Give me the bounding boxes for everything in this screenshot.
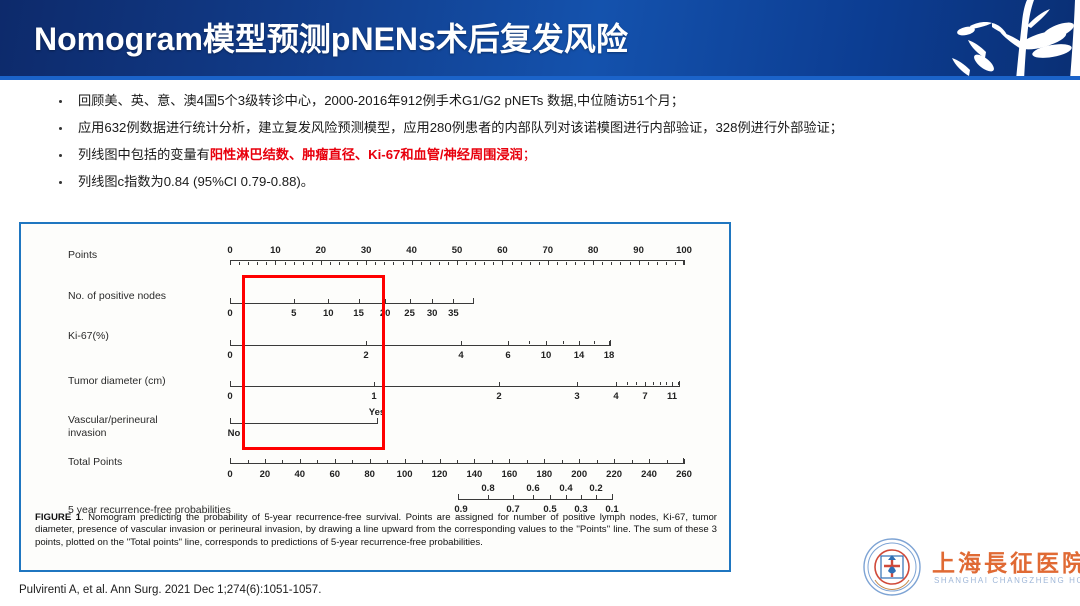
tick-label: 40: [295, 469, 306, 480]
tick-label: 0.8: [481, 483, 494, 494]
tick-label: 0: [227, 469, 232, 480]
tick-label: 160: [501, 469, 517, 480]
bullet-text-3-highlight: 阳性淋巴结数、肿瘤直径、Ki-67和血管/神经周围浸润: [210, 147, 523, 162]
tick-label: 80: [588, 245, 599, 256]
tick-label: 30: [427, 308, 438, 319]
hospital-emblem-icon: [858, 536, 928, 598]
tick-label: 200: [571, 469, 587, 480]
nomogram-figure-panel: Points No. of positive nodes Ki-67(%) Tu…: [19, 222, 731, 572]
tick-label: 180: [536, 469, 552, 480]
tick-label: 70: [543, 245, 554, 256]
bullet-text-3-prefix: 列线图中包括的变量有: [78, 147, 210, 162]
axis-label-vascular: Vascular/perineural invasion: [68, 414, 183, 440]
tick-label: 220: [606, 469, 622, 480]
list-item: 列线图中包括的变量有阳性淋巴结数、肿瘤直径、Ki-67和血管/神经周围浸润；: [50, 146, 1050, 164]
axis-label-nodes: No. of positive nodes: [68, 290, 166, 303]
tick-label: 2: [496, 391, 501, 402]
tick-label: 0: [227, 391, 232, 402]
tick-label: 0: [227, 350, 232, 361]
tree-branch-icon: [930, 0, 1080, 80]
tick-label: 25: [404, 308, 415, 319]
list-item: 回顾美、英、意、澳4国5个3级转诊中心，2000-2016年912例手术G1/G…: [50, 92, 1050, 110]
axis-label-total: Total Points: [68, 456, 122, 469]
tick-label: 11: [667, 391, 677, 402]
tick-label: 100: [676, 245, 692, 256]
figure-caption: FIGURE 1. Nomogram predicting the probab…: [35, 512, 717, 549]
tick-label: 80: [364, 469, 375, 480]
tick-label: 0.4: [559, 483, 572, 494]
tick-label: 100: [397, 469, 413, 480]
tick-label: 40: [406, 245, 417, 256]
nomogram-chart: Points No. of positive nodes Ki-67(%) Tu…: [21, 224, 729, 570]
tick-label: 60: [330, 469, 341, 480]
bullet-text-4: 列线图c指数为0.84 (95%CI 0.79-0.88)。: [78, 174, 314, 189]
tick-label: 0.2: [589, 483, 602, 494]
figure-caption-text: . Nomogram predicting the probability of…: [35, 512, 717, 548]
page-title: Nomogram模型预测pNENs术后复发风险: [34, 14, 628, 60]
tick-label: 1: [371, 391, 376, 402]
tick-label: 120: [432, 469, 448, 480]
citation-text: Pulvirenti A, et al. Ann Surg. 2021 Dec …: [19, 584, 321, 596]
header-underline: [0, 76, 1080, 80]
category-label-no: No: [228, 428, 241, 439]
hospital-logo: 上海長征医院 SHANGHAI CHANGZHENG HOSPITAL: [858, 536, 1068, 598]
axis-label-tumor: Tumor diameter (cm): [68, 375, 166, 388]
tick-label: 140: [466, 469, 482, 480]
tick-label: 14: [574, 350, 585, 361]
tick-label: 4: [613, 391, 618, 402]
tick-label: 30: [361, 245, 372, 256]
tick-label: 5: [291, 308, 296, 319]
category-label-yes: Yes: [369, 407, 385, 418]
tick-label: 20: [260, 469, 271, 480]
tick-label: 60: [497, 245, 508, 256]
figure-caption-label: FIGURE 1: [35, 512, 81, 523]
tick-label: 0: [227, 308, 232, 319]
hospital-name-en: SHANGHAI CHANGZHENG HOSPITAL: [934, 576, 1080, 585]
tick-label: 10: [323, 308, 334, 319]
tick-label: 0: [227, 245, 232, 256]
tick-label: 90: [633, 245, 644, 256]
tick-label: 15: [353, 308, 364, 319]
hospital-name-cn: 上海長征医院: [932, 544, 1080, 578]
tick-label: 20: [380, 308, 391, 319]
axis-label-ki67: Ki-67(%): [68, 330, 109, 343]
list-item: 列线图c指数为0.84 (95%CI 0.79-0.88)。: [50, 173, 1050, 191]
bullet-text-2: 应用632例数据进行统计分析，建立复发风险预测模型，应用280例患者的内部队列对…: [78, 120, 843, 135]
tick-label: 20: [316, 245, 327, 256]
tick-label: 50: [452, 245, 463, 256]
tick-label: 0.6: [526, 483, 539, 494]
tick-label: 18: [604, 350, 615, 361]
tick-label: 10: [270, 245, 281, 256]
axis-label-points: Points: [68, 249, 97, 262]
tick-label: 7: [642, 391, 647, 402]
list-item: 应用632例数据进行统计分析，建立复发风险预测模型，应用280例患者的内部队列对…: [50, 119, 1050, 137]
tick-label: 2: [363, 350, 368, 361]
bullet-list: 回顾美、英、意、澳4国5个3级转诊中心，2000-2016年912例手术G1/G…: [50, 92, 1050, 200]
bullet-text-1: 回顾美、英、意、澳4国5个3级转诊中心，2000-2016年912例手术G1/G…: [78, 93, 684, 108]
tick-label: 6: [505, 350, 510, 361]
tick-label: 10: [541, 350, 552, 361]
tick-label: 240: [641, 469, 657, 480]
tick-label: 4: [458, 350, 463, 361]
bullet-text-3-suffix: ；: [523, 147, 536, 162]
tick-label: 260: [676, 469, 692, 480]
tick-label: 3: [574, 391, 579, 402]
slide-header: Nomogram模型预测pNENs术后复发风险: [0, 0, 1080, 80]
tick-label: 35: [448, 308, 459, 319]
